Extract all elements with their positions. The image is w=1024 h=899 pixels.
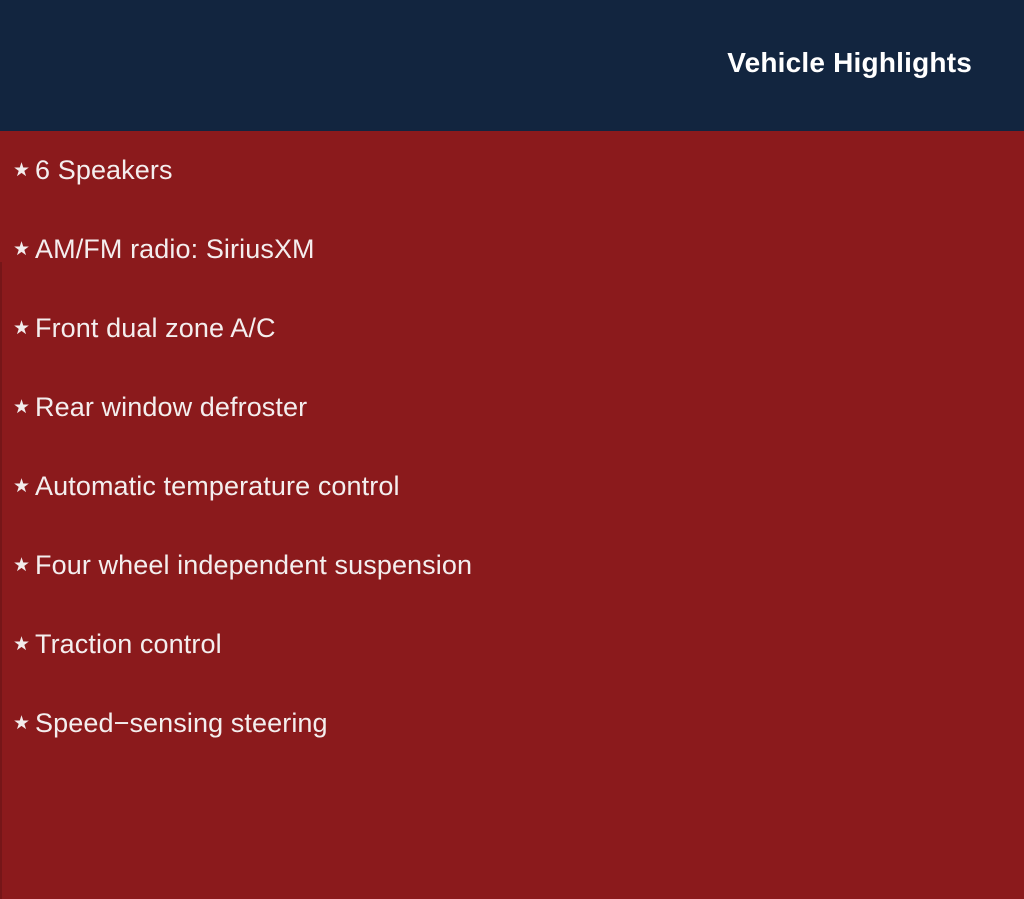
slide-body: ★ 6 Speakers ★ AM/FM radio: SiriusXM ★ F… (0, 131, 1024, 768)
vehicle-features-list: ★ 6 Speakers ★ AM/FM radio: SiriusXM ★ F… (0, 131, 1024, 763)
star-icon: ★ (13, 477, 35, 496)
star-icon: ★ (13, 161, 35, 180)
feature-label: Speed−sensing steering (35, 709, 1024, 739)
star-icon: ★ (13, 556, 35, 575)
slide-header: Vehicle Highlights (0, 0, 1024, 131)
feature-label: 6 Speakers (35, 156, 1024, 186)
list-item: ★ Traction control (0, 605, 1024, 684)
feature-label: Automatic temperature control (35, 472, 1024, 502)
list-item: ★ Speed−sensing steering (0, 684, 1024, 763)
star-icon: ★ (13, 240, 35, 259)
list-item: ★ Automatic temperature control (0, 447, 1024, 526)
feature-label: Traction control (35, 630, 1024, 660)
page-title: Vehicle Highlights (727, 47, 972, 79)
star-icon: ★ (13, 635, 35, 654)
list-item: ★ 6 Speakers (0, 131, 1024, 210)
list-item: ★ Rear window defroster (0, 368, 1024, 447)
feature-label: Rear window defroster (35, 393, 1024, 423)
vehicle-highlights-slide: Vehicle Highlights ★ 6 Speakers ★ AM/FM … (0, 0, 1024, 768)
list-item: ★ Front dual zone A/C (0, 289, 1024, 368)
star-icon: ★ (13, 714, 35, 733)
list-item: ★ AM/FM radio: SiriusXM (0, 210, 1024, 289)
feature-label: AM/FM radio: SiriusXM (35, 235, 1024, 265)
feature-label: Four wheel independent suspension (35, 551, 1024, 581)
feature-label: Front dual zone A/C (35, 314, 1024, 344)
star-icon: ★ (13, 319, 35, 338)
star-icon: ★ (13, 398, 35, 417)
list-item: ★ Four wheel independent suspension (0, 526, 1024, 605)
